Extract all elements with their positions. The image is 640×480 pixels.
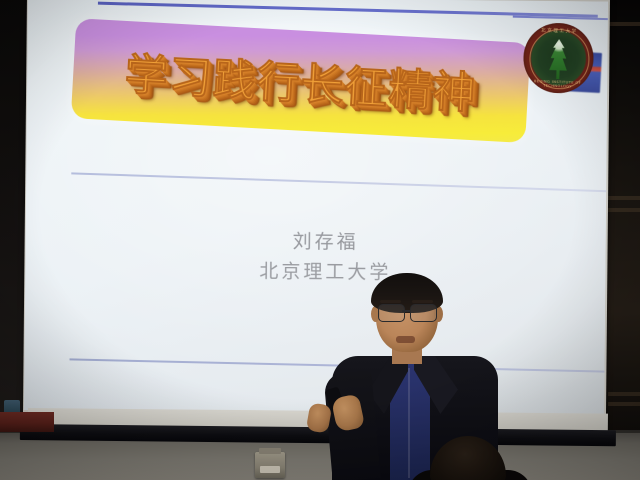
glasses-bridge bbox=[402, 310, 411, 312]
projection-vignette bbox=[24, 0, 608, 416]
right-wall-shelf bbox=[608, 196, 640, 200]
presenter-eyebrow-right bbox=[412, 300, 433, 303]
right-wall-shelf bbox=[608, 22, 640, 26]
right-wall bbox=[604, 0, 640, 432]
right-wall-shelf bbox=[608, 392, 640, 396]
glasses-lens-right bbox=[410, 304, 437, 322]
projector-screen-surface: 学习践行长征精神 北京理工大学 BEIJING INSTITUTE OF TEC… bbox=[24, 0, 608, 416]
presenter-eyebrow-left bbox=[380, 300, 401, 303]
right-wall-shelf bbox=[608, 208, 640, 212]
side-desk bbox=[0, 412, 54, 432]
glasses-lens-left bbox=[378, 304, 405, 322]
presenter-jacket-zip bbox=[408, 368, 410, 478]
wall-outlet bbox=[255, 452, 285, 478]
presenter-mouth bbox=[396, 336, 415, 343]
right-wall-shelf bbox=[608, 402, 640, 406]
lecture-scene: 学习践行长征精神 北京理工大学 BEIJING INSTITUTE OF TEC… bbox=[0, 0, 640, 480]
